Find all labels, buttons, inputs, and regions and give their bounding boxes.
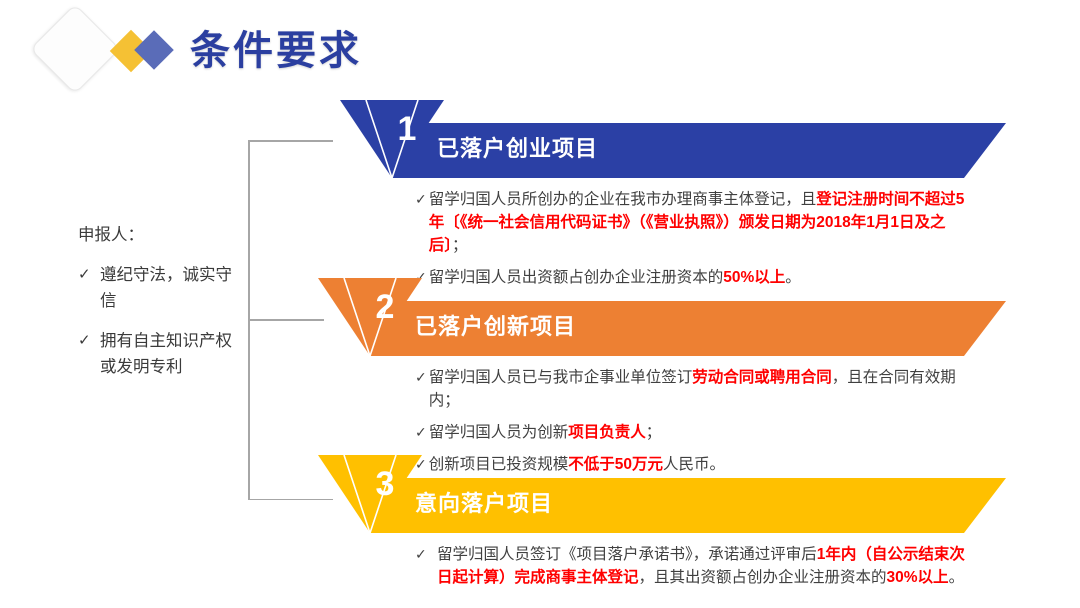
- plain-text: ，且其出资额占创办企业注册资本的: [639, 569, 887, 586]
- section-3-banner: 3 意向落户项目: [0, 455, 1080, 533]
- plain-text: 留学归国人员所创办的企业在我市办理商事主体登记，且: [429, 191, 817, 208]
- section-3-title: 意向落户项目: [415, 486, 553, 518]
- section-2-banner: 2 已落户创新项目: [0, 278, 1080, 356]
- bullet-item: ✓留学归国人员所创办的企业在我市办理商事主体登记，且登记注册时间不超过5年〔《统…: [415, 188, 977, 257]
- title-row: 条件要求: [0, 0, 1080, 100]
- diamond-outline-icon: [30, 4, 121, 95]
- slide-canvas: 条件要求 申报人： ✓ 遵纪守法，诚实守信 ✓ 拥有自主知识产权或发明专利 1 …: [0, 0, 1080, 608]
- bullet-text: 留学归国人员签订《项目落户承诺书》，承诺通过评审后1年内（自公示结束次日起计算）…: [437, 543, 977, 589]
- diamond-blue-icon: [134, 30, 174, 70]
- bullet-text: 留学归国人员为创新项目负责人；: [429, 421, 977, 444]
- section-3-number: 3: [318, 455, 422, 533]
- bullet-text: 留学归国人员所创办的企业在我市办理商事主体登记，且登记注册时间不超过5年〔《统一…: [429, 188, 977, 257]
- highlight-text: 项目负责人: [568, 424, 646, 441]
- plain-text: 留学归国人员为创新: [429, 424, 569, 441]
- plain-text: 。: [949, 569, 965, 586]
- check-icon: ✓: [415, 421, 429, 444]
- check-icon: ✓: [415, 188, 429, 257]
- section-1-number: 1: [340, 100, 444, 178]
- check-icon: ✓: [415, 543, 437, 589]
- bullet-item: ✓留学归国人员已与我市企事业单位签订劳动合同或聘用合同，且在合同有效期内；: [415, 366, 977, 412]
- section-2-title: 已落户创新项目: [415, 309, 576, 341]
- section-2-number: 2: [318, 278, 422, 356]
- bullet-item: ✓留学归国人员为创新项目负责人；: [415, 421, 977, 444]
- plain-text: ；: [646, 424, 662, 441]
- plain-text: 留学归国人员已与我市企事业单位签订: [429, 369, 693, 386]
- plain-text: ；: [452, 237, 468, 254]
- highlight-text: 30%以上: [887, 569, 949, 586]
- applicant-heading: 申报人：: [78, 222, 248, 248]
- bullet-text: 留学归国人员已与我市企事业单位签订劳动合同或聘用合同，且在合同有效期内；: [429, 366, 977, 412]
- section-1-title: 已落户创业项目: [437, 131, 598, 163]
- page-title: 条件要求: [190, 27, 362, 75]
- section-3-bullets: ✓留学归国人员签订《项目落户承诺书》，承诺通过评审后1年内（自公示结束次日起计算…: [415, 543, 977, 598]
- plain-text: 留学归国人员签订《项目落户承诺书》，承诺通过评审后: [437, 546, 817, 563]
- section-1-banner: 1 已落户创业项目: [0, 100, 1080, 178]
- highlight-text: 劳动合同或聘用合同: [692, 369, 832, 386]
- bullet-item: ✓留学归国人员签订《项目落户承诺书》，承诺通过评审后1年内（自公示结束次日起计算…: [415, 543, 977, 589]
- check-icon: ✓: [415, 366, 429, 412]
